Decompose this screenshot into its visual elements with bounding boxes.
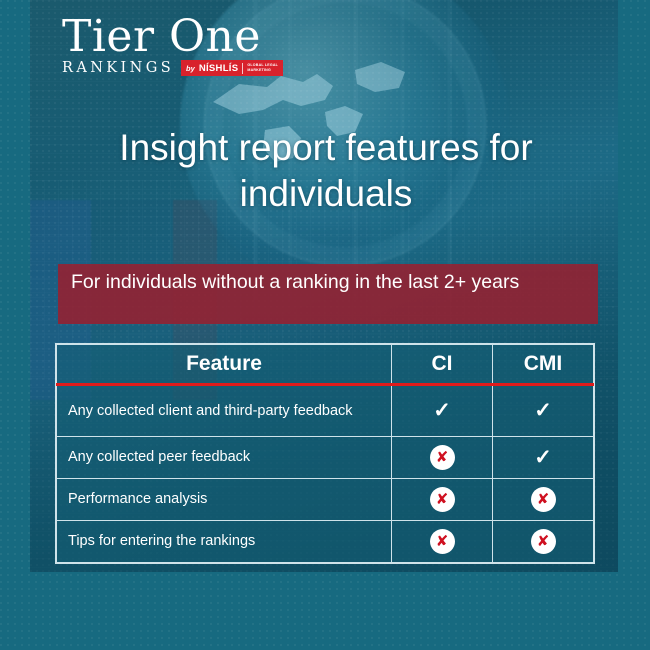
feature-comparison-table: Feature CI CMI Any collected client and … [55,343,595,564]
column-header-feature: Feature [57,345,392,385]
subtitle-banner: For individuals without a ranking in the… [58,264,598,324]
check-icon: ✓ [433,400,451,421]
check-icon: ✓ [534,447,552,468]
check-icon: ✓ [534,400,552,421]
badge-tagline-line2: MARKETING [247,68,278,73]
table-header-row: Feature CI CMI [57,345,594,385]
feature-label: Any collected client and third-party fee… [57,385,392,437]
table-row: Tips for entering the rankings ✘ ✘ [57,521,594,563]
table-row: Performance analysis ✘ ✘ [57,479,594,521]
feature-label: Tips for entering the rankings [57,521,392,563]
badge-brand-text: NÍSHLÍS [199,63,239,74]
cmi-mark: ✘ [493,479,594,521]
page-title: Insight report features for individuals [70,125,582,217]
ci-mark: ✘ [392,437,493,479]
feature-label: Any collected peer feedback [57,437,392,479]
ci-mark: ✘ [392,479,493,521]
cmi-mark: ✓ [493,437,594,479]
badge-divider [242,63,243,74]
column-header-cmi: CMI [493,345,594,385]
cross-icon: ✘ [531,487,556,512]
badge-tagline: GLOBAL LEGAL MARKETING [247,63,278,73]
cross-icon: ✘ [531,529,556,554]
cross-icon: ✘ [430,487,455,512]
cmi-mark: ✓ [493,385,594,437]
cmi-mark: ✘ [493,521,594,563]
table-row: Any collected peer feedback ✘ ✓ [57,437,594,479]
cross-icon: ✘ [430,445,455,470]
cross-icon: ✘ [430,529,455,554]
table-row: Any collected client and third-party fee… [57,385,594,437]
ci-mark: ✘ [392,521,493,563]
logo-wordmark: Tier One [62,12,322,62]
nishlis-badge: by NÍSHLÍS GLOBAL LEGAL MARKETING [181,60,283,76]
table-body: Any collected client and third-party fee… [57,385,594,563]
column-header-ci: CI [392,345,493,385]
slide-root: Tier One RANKINGS by NÍSHLÍS GLOBAL LEGA… [0,0,650,650]
brand-logo: Tier One RANKINGS by NÍSHLÍS GLOBAL LEGA… [62,12,322,82]
feature-label: Performance analysis [57,479,392,521]
logo-subrow: RANKINGS by NÍSHLÍS GLOBAL LEGAL MARKETI… [62,60,322,76]
ci-mark: ✓ [392,385,493,437]
badge-by-text: by [186,64,195,73]
logo-rankings-text: RANKINGS [62,60,174,76]
